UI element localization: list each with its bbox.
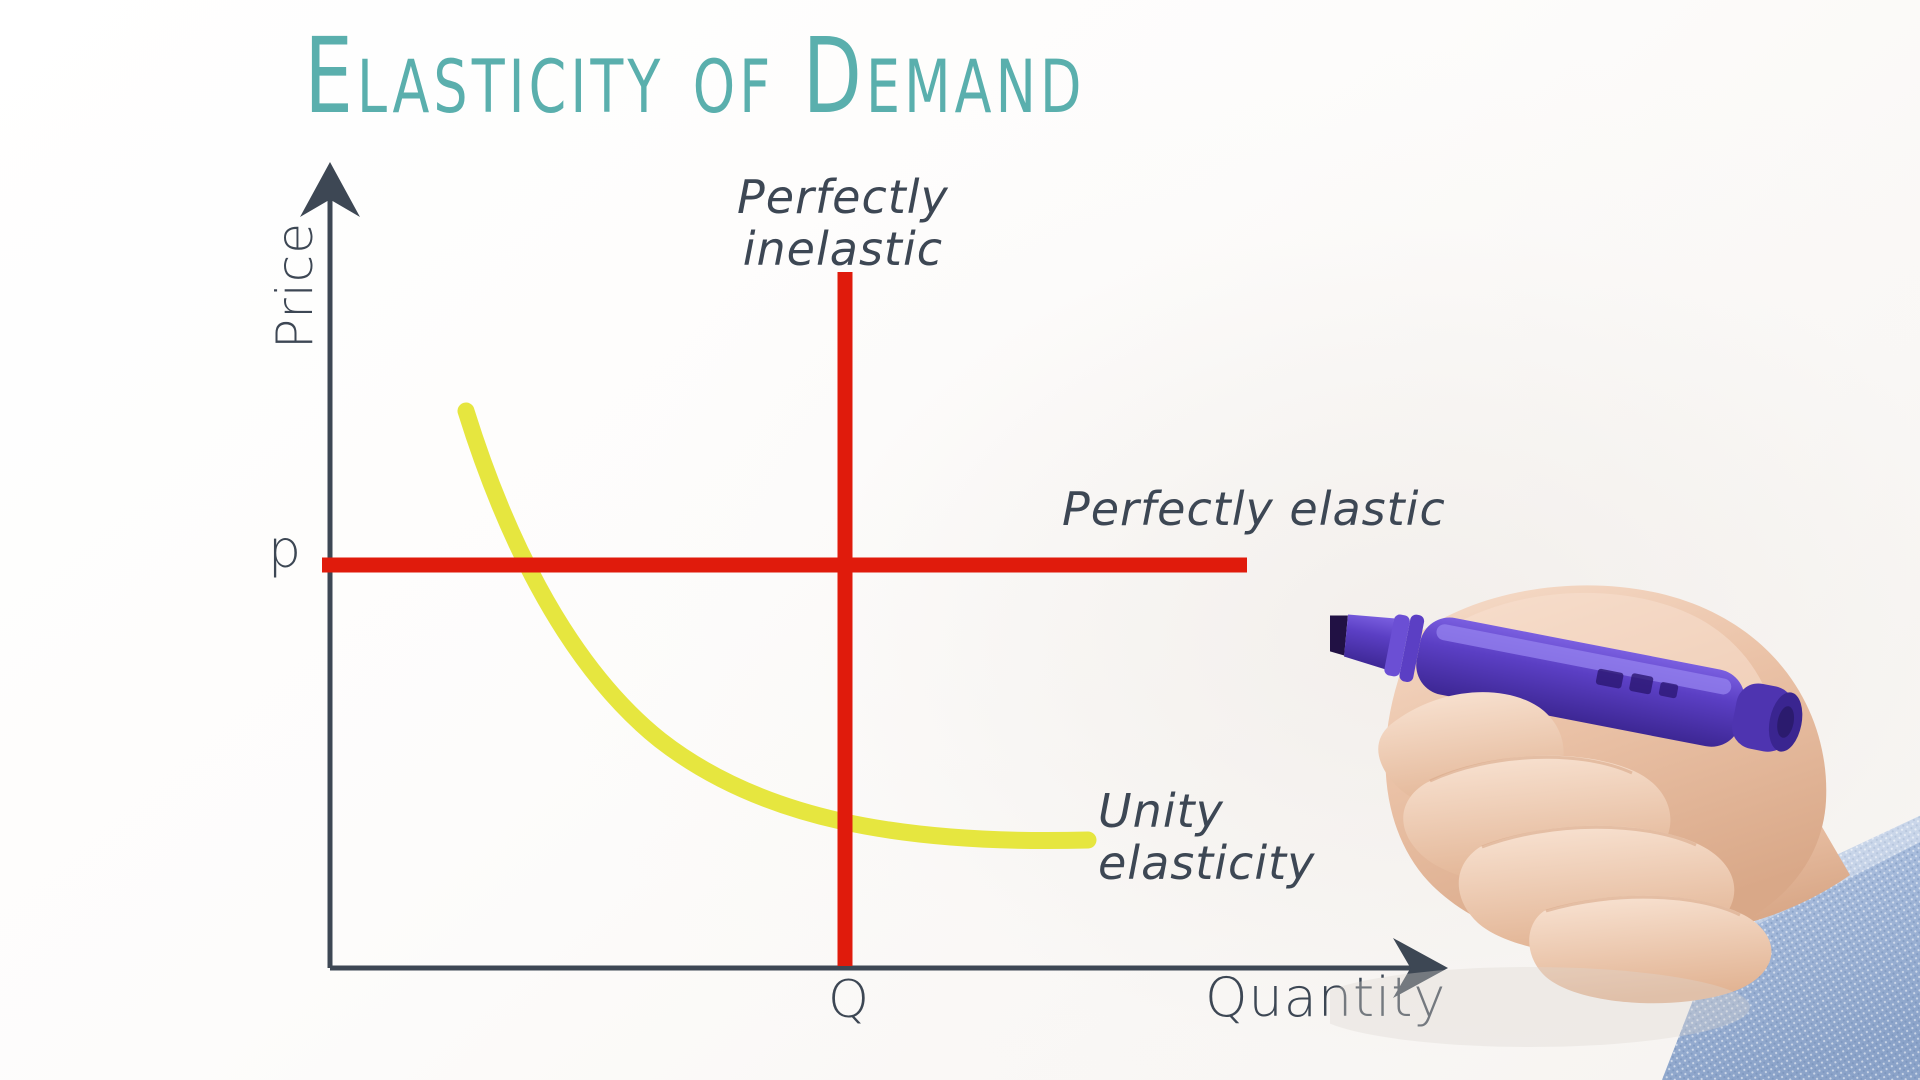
annotation-perfectly-elastic: Perfectly elastic <box>1062 482 1446 536</box>
y-axis-tick-label-p: p <box>268 520 302 580</box>
unity-elasticity-curve <box>466 411 1088 841</box>
x-axis-tick-label-q: Q <box>828 970 870 1030</box>
annotation-perfectly-inelastic: Perfectly inelastic <box>737 172 949 275</box>
whiteboard-canvas: Elasticity of Demand Perfectly inelastic… <box>0 0 1920 1080</box>
y-axis-label: Price <box>266 222 324 349</box>
annotation-unity-elasticity: Unity elasticity <box>1098 786 1315 889</box>
hand-with-marker-photo <box>1330 575 1920 1080</box>
